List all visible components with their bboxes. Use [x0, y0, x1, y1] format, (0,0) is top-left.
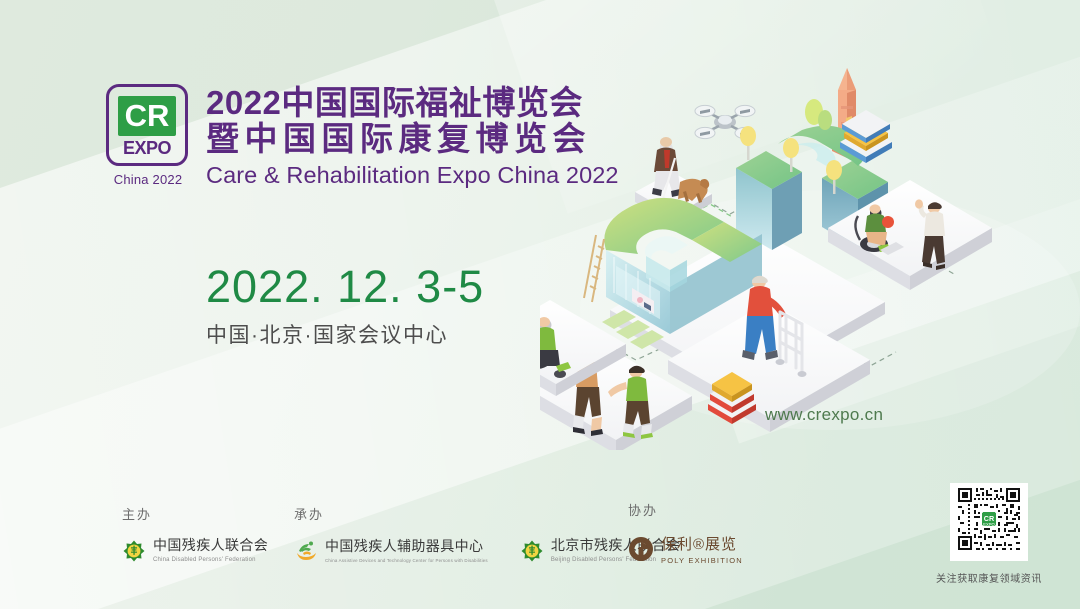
partner-role-label: 主办 [122, 504, 268, 523]
partner-role-label: 承办 [294, 504, 680, 523]
partner-group-host: 主办 中国残疾人联合会 China Disabled Persons' Fede… [122, 504, 268, 565]
partner-name-cn: 中国残疾人联合会 [153, 537, 268, 553]
qr-code-icon[interactable]: CR EXPO [950, 483, 1028, 561]
cr-expo-logo: CR EXPO China 2022 [106, 84, 190, 186]
page-title-cn-line1: 2022中国国际福祉博览会 [206, 85, 619, 121]
blind-person-with-guide-dog [652, 137, 709, 203]
partner-text: 保利®展览 POLY EXHIBITION [661, 533, 743, 565]
expo-poster: CR EXPO China 2022 2022中国国际福祉博览会 暨中国国际康复… [0, 0, 1080, 609]
trees [805, 99, 832, 130]
title-block: 2022中国国际福祉博览会 暨中国国际康复博览会 Care & Rehabili… [206, 84, 619, 190]
partner-name-cn: 保利®展览 [661, 536, 737, 553]
svg-text:EXPO: EXPO [983, 522, 995, 527]
date-venue-block: 2022. 12. 3-5 中国·北京·国家会议中心 [206, 264, 484, 346]
cr-expo-logo-cr: CR [118, 96, 177, 136]
cr-expo-logo-frame: CR EXPO [106, 84, 188, 166]
partner-role-label: 协办 [628, 500, 743, 519]
event-venue: 中国·北京·国家会议中心 [206, 325, 484, 346]
partner-logo-list: 中国残疾人辅助器具中心 China Assistive Devices and … [294, 537, 680, 565]
page-title-en: Care & Rehabilitation Expo China 2022 [206, 161, 619, 190]
poly-p-icon [628, 536, 654, 562]
qr-block: CR EXPO 关注获取康复领域资讯 [936, 483, 1042, 585]
partner-logo-list: 中国残疾人联合会 China Disabled Persons' Federat… [122, 537, 268, 565]
bdpf-flower-icon [520, 539, 544, 563]
qr-caption: 关注获取康复领域资讯 [936, 570, 1042, 585]
partner-name-cn: 中国残疾人辅助器具中心 [325, 538, 483, 554]
partner-logo-list: 保利®展览 POLY EXHIBITION [628, 533, 743, 565]
partner-poly-exhibition: 保利®展览 POLY EXHIBITION [628, 533, 743, 565]
partner-cdpf: 中国残疾人联合会 China Disabled Persons' Federat… [122, 537, 268, 565]
cr-expo-logo-expo: EXPO [123, 139, 171, 157]
partner-name-en: China Assistive Devices and Technology C… [325, 558, 488, 564]
partner-name-en: China Disabled Persons' Federation [153, 557, 268, 565]
page-title-cn-line2: 暨中国国际康复博览会 [206, 121, 619, 158]
partner-name-en: POLY EXHIBITION [661, 556, 743, 565]
cadtc-icon [294, 539, 318, 563]
header-lockup: CR EXPO China 2022 2022中国国际福祉博览会 暨中国国际康复… [106, 84, 619, 190]
partner-cadtc: 中国残疾人辅助器具中心 China Assistive Devices and … [294, 538, 488, 564]
partner-text: 中国残疾人联合会 China Disabled Persons' Federat… [153, 537, 268, 565]
cdpf-flower-icon [122, 539, 146, 563]
partner-group-organizer: 承办 中国残疾人辅助器具中心 China Assistive Devices a… [294, 504, 680, 565]
event-date: 2022. 12. 3-5 [206, 264, 484, 309]
partner-text: 中国残疾人辅助器具中心 China Assistive Devices and … [325, 538, 488, 564]
isometric-illustration [540, 60, 1080, 450]
partner-group-support: 协办 保利®展览 POLY EXHIBITION [628, 500, 743, 565]
website-url[interactable]: www.crexpo.cn [765, 405, 883, 425]
cr-expo-logo-china-year: China 2022 [106, 173, 190, 186]
